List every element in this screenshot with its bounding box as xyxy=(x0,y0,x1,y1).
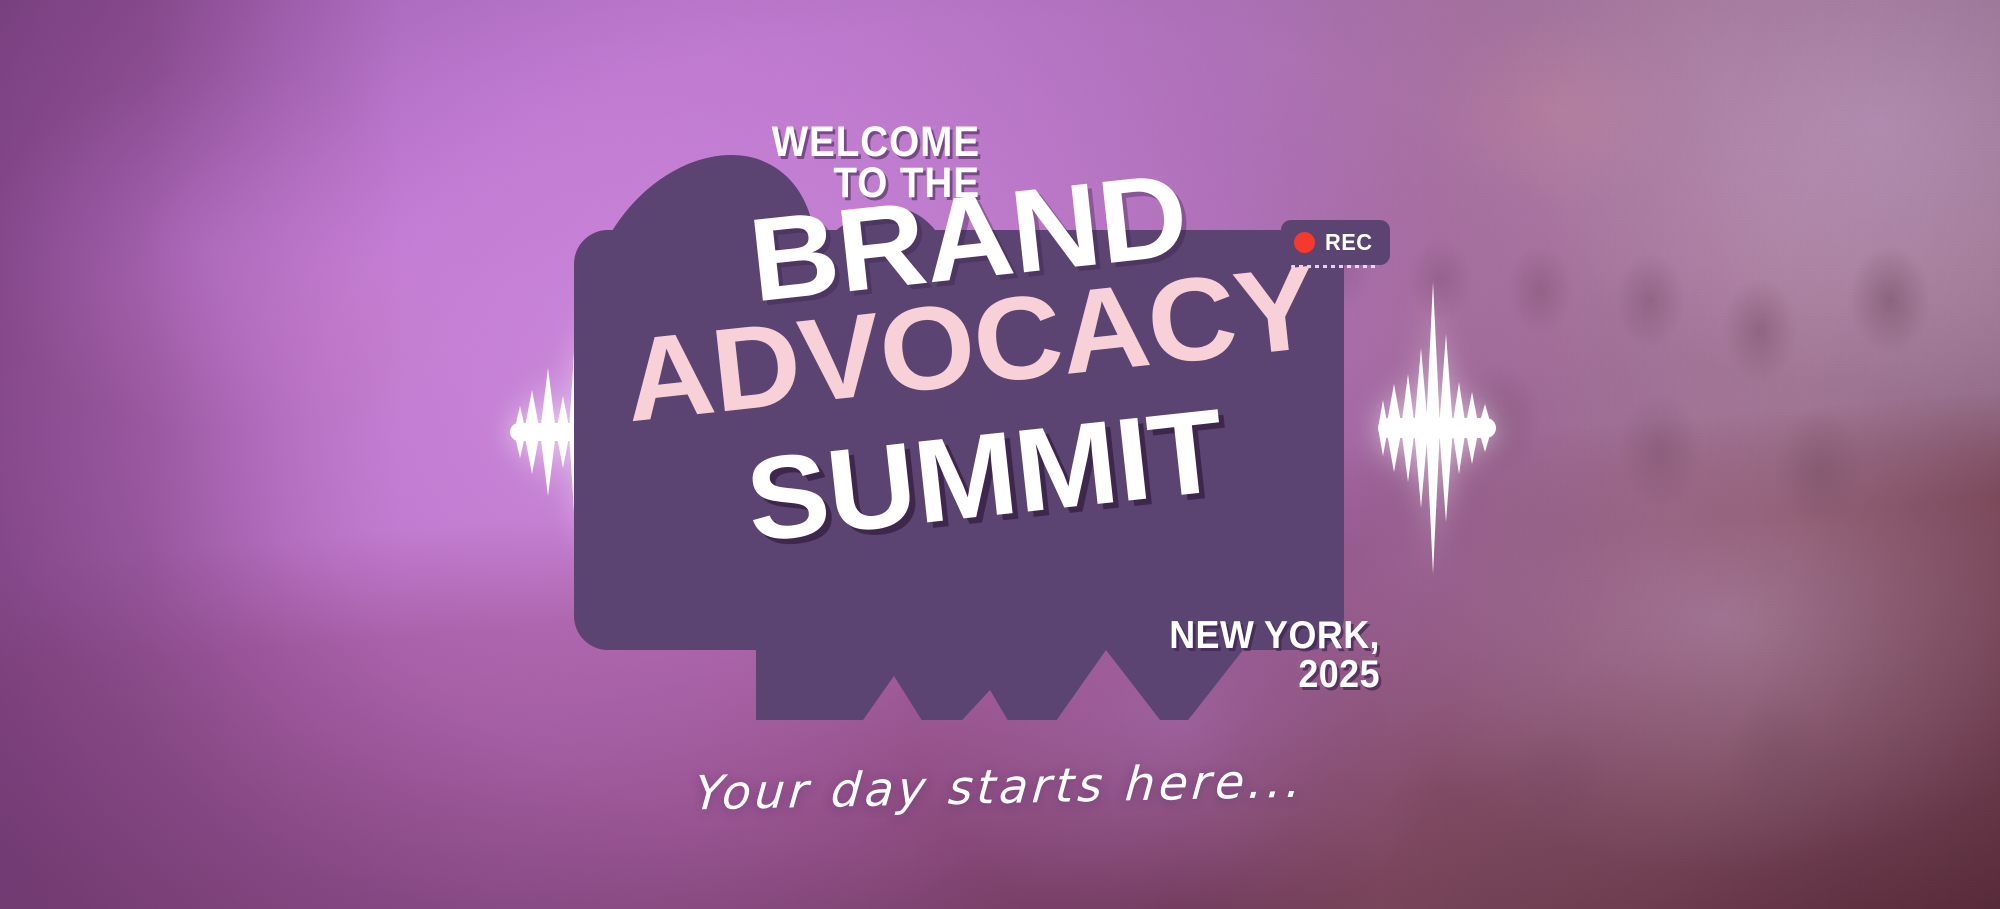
rec-label: REC xyxy=(1325,229,1373,256)
event-location: NEW YORK, 2025 xyxy=(994,616,1380,694)
audio-waveform-right-icon xyxy=(1378,278,1496,578)
rec-badge: REC xyxy=(1281,220,1390,265)
rec-badge-dashed-underline xyxy=(1291,265,1379,268)
welcome-line-2: TO THE xyxy=(602,163,980,204)
event-banner-stage: WELCOME TO THE REC BRAND ADVOCACY SUMMIT… xyxy=(0,0,2000,909)
welcome-heading: WELCOME TO THE xyxy=(602,122,980,204)
record-dot-icon xyxy=(1294,232,1315,253)
welcome-line-1: WELCOME xyxy=(602,122,980,163)
event-city: NEW YORK, xyxy=(994,616,1380,655)
event-year: 2025 xyxy=(994,655,1380,694)
